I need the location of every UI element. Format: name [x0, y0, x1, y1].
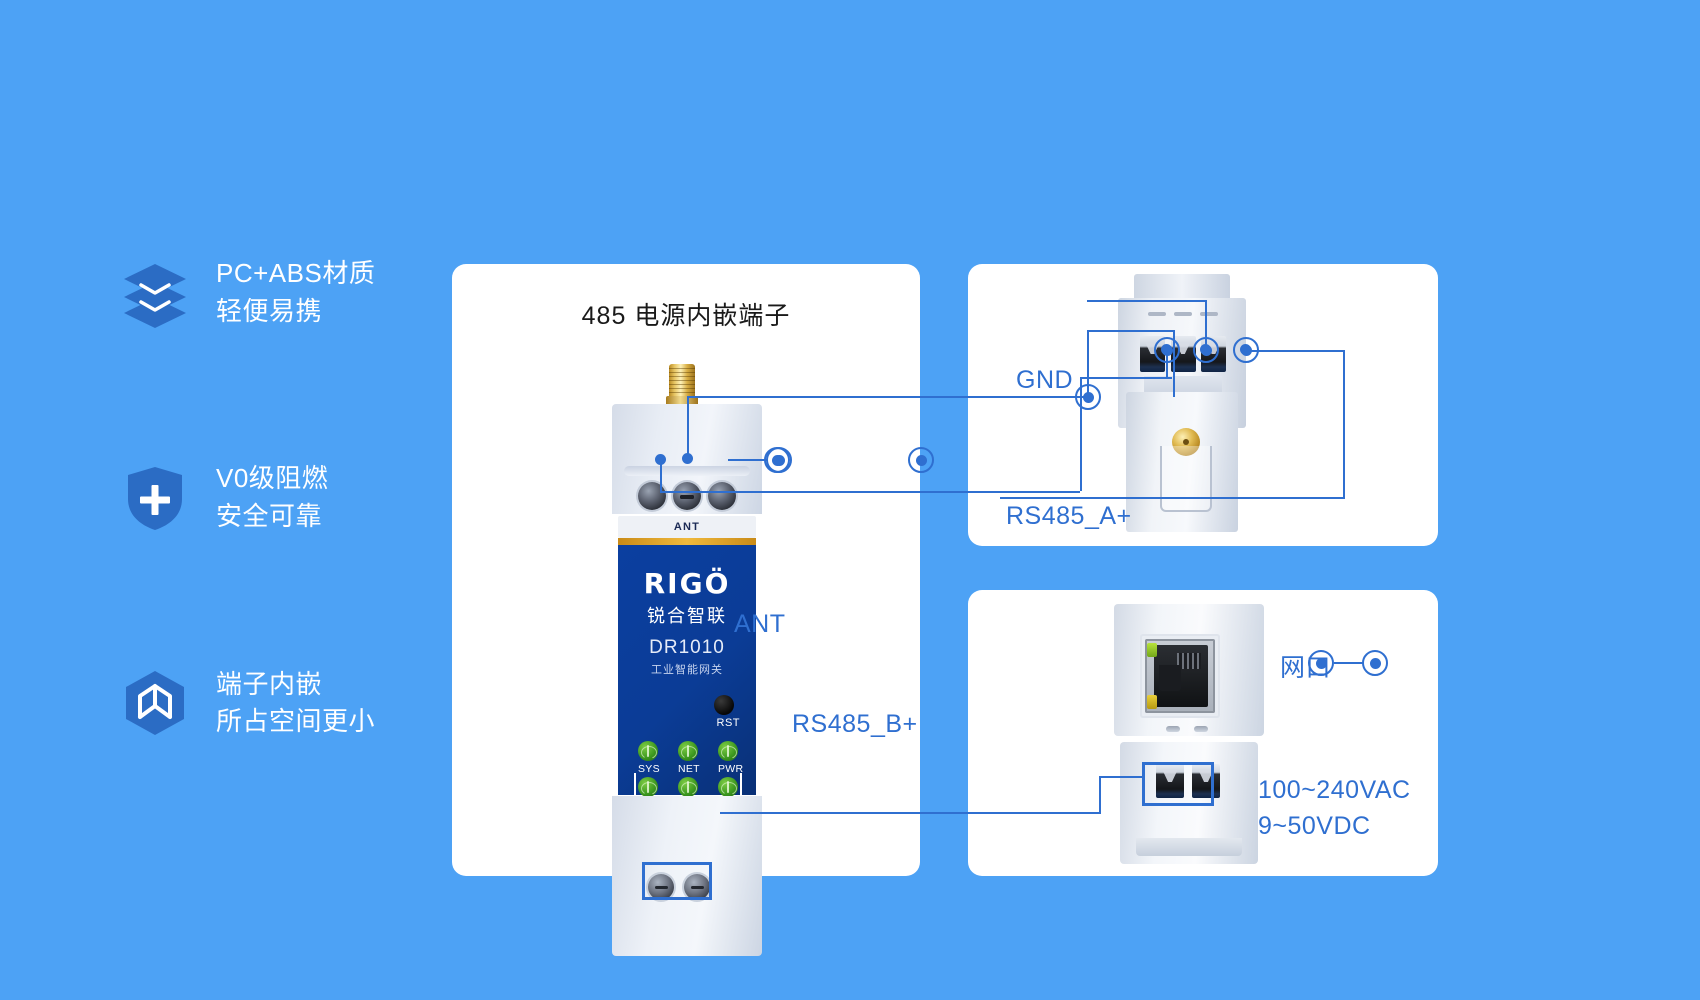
lead-power-vertical [1099, 776, 1101, 814]
reset-button[interactable] [714, 695, 734, 715]
lead-gnd-top [1087, 330, 1175, 332]
callout-gnd: GND [1016, 366, 1073, 395]
power-terminal-highlight-2 [1142, 762, 1214, 806]
case-screws [1166, 726, 1208, 732]
feature-text-material: PC+ABS材质 轻便易携 [216, 255, 375, 330]
panel-title: 485 电源内嵌端子 [452, 296, 920, 332]
device-front-face: RIGÖ 锐合智联 DR1010 工业智能网关 RST SYS NET PWR [618, 545, 756, 795]
lead-lan [1334, 662, 1364, 664]
connector-ring-gnd [1075, 384, 1101, 410]
feature-line1: 端子内嵌 [216, 669, 322, 699]
led-sys [638, 741, 658, 761]
lead-rs485b-to-label [728, 459, 768, 461]
led-net [678, 741, 698, 761]
reset-label: RST [717, 717, 741, 729]
lead-rs485a-right [1246, 350, 1344, 352]
logo-text-en: RIGÖ [644, 567, 731, 600]
panel-port-view: 网口 100~240VAC 9~50VDC [968, 590, 1438, 876]
lead-gnd-terminal-h [1087, 300, 1207, 302]
lead-power-to-terminal [1099, 776, 1143, 778]
device-port-view [1114, 604, 1264, 864]
lead-power-horizontal [720, 812, 1100, 814]
callout-rs485-b: RS485_B+ [792, 710, 918, 739]
feature-text-flame-retardant: V0级阻燃 安全可靠 [216, 460, 328, 535]
device-port-upper [1114, 604, 1264, 736]
feature-line2: 轻便易携 [216, 293, 375, 331]
rj45-link-led [1147, 643, 1157, 657]
lead-rs485a-bottom [1000, 497, 1345, 499]
terminal-screw [708, 482, 736, 510]
feature-line2: 安全可靠 [216, 498, 328, 536]
connector-dot-ant-screw [682, 453, 693, 464]
din-rail-clip [1160, 446, 1212, 512]
device-terminal-lower [1126, 392, 1238, 532]
feature-item-material: PC+ABS材质 轻便易携 [120, 255, 470, 330]
sma-antenna-connector-icon [669, 364, 695, 406]
layers-icon [120, 258, 190, 328]
lead-rs485b-horizontal [660, 491, 1080, 493]
connector-ring-rs485b-right [908, 447, 934, 473]
gold-accent-bar [618, 538, 756, 545]
panel-main-device: 485 电源内嵌端子 ANT RIGÖ 锐合智联 DR1010 工业智能网关 R… [452, 264, 920, 876]
led-row-status [638, 741, 738, 761]
device-model-subtitle: 工业智能网关 [618, 661, 756, 677]
hexagon-cube-icon [120, 668, 190, 738]
device-model: DR1010 [618, 637, 756, 659]
power-terminal-highlight [642, 862, 712, 900]
shield-plus-icon [120, 463, 190, 533]
led-pwr [718, 741, 738, 761]
connector-ring-lan-end [1362, 650, 1388, 676]
feature-list: PC+ABS材质 轻便易携 V0级阻燃 安全可靠 端子内嵌 所占空间更小 [120, 255, 470, 741]
callout-ant: ANT [734, 610, 786, 639]
lead-gnd-terminal [1205, 300, 1207, 345]
feature-item-flame-retardant: V0级阻燃 安全可靠 [120, 460, 470, 535]
feature-text-embedded-terminal: 端子内嵌 所占空间更小 [216, 666, 375, 741]
connector-ring-lan-port [1308, 650, 1334, 676]
callout-rs485-a: RS485_A+ [1006, 502, 1132, 531]
lead-ant-vertical [687, 396, 689, 458]
panel-terminal-view: GND RS485_A+ [968, 264, 1438, 546]
lead-rs485b-up [1080, 377, 1082, 491]
callout-power-dc: 9~50VDC [1258, 812, 1371, 841]
feature-item-embedded-terminal: 端子内嵌 所占空间更小 [120, 666, 470, 741]
lead-ant-horizontal [687, 396, 1087, 398]
rj45-port-icon [1145, 639, 1215, 713]
connector-dot-rs485b-screw [655, 454, 666, 465]
feature-line1: PC+ABS材质 [216, 258, 375, 288]
lead-terminal-a-down [1166, 350, 1168, 378]
callout-power-ac: 100~240VAC [1258, 776, 1411, 805]
device-foot [1136, 838, 1242, 856]
lead-rs485b-to-terminal [1080, 377, 1172, 379]
vent-holes [1148, 312, 1218, 316]
device-terminal-view [1118, 274, 1246, 534]
rj45-frame [1140, 634, 1220, 718]
rj45-activity-led [1147, 695, 1157, 709]
lead-rs485a-down [1343, 350, 1345, 498]
rs485-terminal-screws [638, 482, 736, 512]
feature-line2: 所占空间更小 [216, 703, 375, 741]
feature-line1: V0级阻燃 [216, 463, 328, 493]
ant-strip-text: ANT [674, 521, 700, 533]
ant-strip-label: ANT [618, 516, 756, 538]
